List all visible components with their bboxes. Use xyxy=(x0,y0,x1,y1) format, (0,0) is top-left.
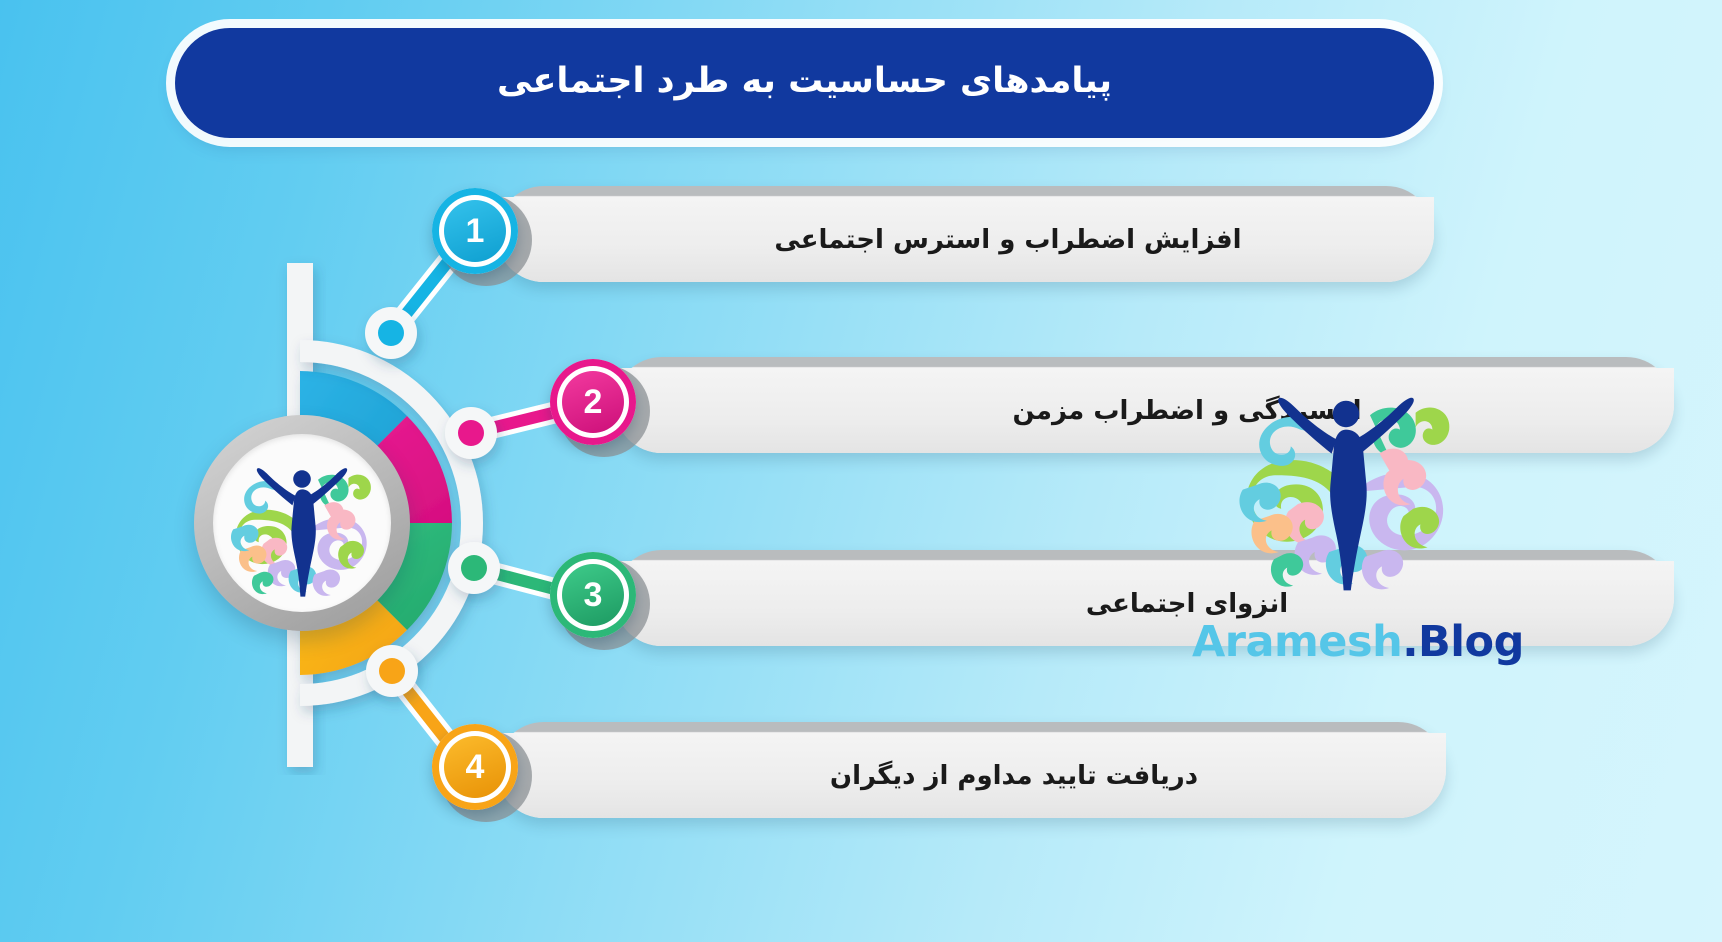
aramesh-brand-logo-icon xyxy=(1226,355,1466,605)
badge-number: 4 xyxy=(444,736,506,798)
segmented-wheel xyxy=(182,255,522,775)
wheel-node-2 xyxy=(445,407,497,459)
infographic-canvas: پیامدهای حساسیت به طرد اجتماعی xyxy=(0,0,1722,942)
wheel-node-4 xyxy=(366,645,418,697)
item-label: انزوای اجتماعی xyxy=(700,589,1674,619)
step-badge-4[interactable]: 4 xyxy=(432,724,518,810)
item-label: دریافت تایید مداوم از دیگران xyxy=(582,761,1446,791)
item-label: افسردگی و اضطراب مزمن xyxy=(700,396,1674,426)
badge-white-ring: 3 xyxy=(557,559,629,631)
page-title: پیامدهای حساسیت به طرد اجتماعی xyxy=(497,60,1112,106)
item-card[interactable]: افزایش اضطراب و استرس اجتماعی xyxy=(496,186,1434,282)
badge-ring: 4 xyxy=(432,724,518,810)
badge-number: 2 xyxy=(562,371,624,433)
brand-separator: . xyxy=(1402,617,1418,667)
badge-ring: 2 xyxy=(550,359,636,445)
item-card[interactable]: افسردگی و اضطراب مزمن xyxy=(614,357,1674,453)
badge-white-ring: 4 xyxy=(439,731,511,803)
badge-white-ring: 2 xyxy=(557,366,629,438)
wheel-node-1 xyxy=(365,307,417,359)
step-badge-3[interactable]: 3 xyxy=(550,552,636,638)
item-card-face: افزایش اضطراب و استرس اجتماعی xyxy=(496,197,1434,282)
item-label: افزایش اضطراب و استرس اجتماعی xyxy=(582,225,1434,255)
brand-block: Aramesh.Blog xyxy=(1198,355,1498,655)
badge-white-ring: 1 xyxy=(439,195,511,267)
step-badge-2[interactable]: 2 xyxy=(550,359,636,445)
step-badge-1[interactable]: 1 xyxy=(432,188,518,274)
badge-ring: 1 xyxy=(432,188,518,274)
wheel-node-3 xyxy=(448,542,500,594)
badge-number: 3 xyxy=(562,564,624,626)
brand-name-secondary: Blog xyxy=(1418,617,1524,667)
brand-wordmark: Aramesh.Blog xyxy=(1192,617,1512,667)
brand-name-primary: Aramesh xyxy=(1192,617,1402,667)
title-banner: پیامدهای حساسیت به طرد اجتماعی xyxy=(175,28,1434,138)
wheel-center-emblem xyxy=(194,415,410,631)
badge-ring: 3 xyxy=(550,552,636,638)
aramesh-logo-icon xyxy=(222,443,382,603)
item-card-face: دریافت تایید مداوم از دیگران xyxy=(496,733,1446,818)
badge-number: 1 xyxy=(444,200,506,262)
item-card-face: افسردگی و اضطراب مزمن xyxy=(614,368,1674,453)
item-card[interactable]: دریافت تایید مداوم از دیگران xyxy=(496,722,1446,818)
emblem-logo-container xyxy=(213,434,391,612)
